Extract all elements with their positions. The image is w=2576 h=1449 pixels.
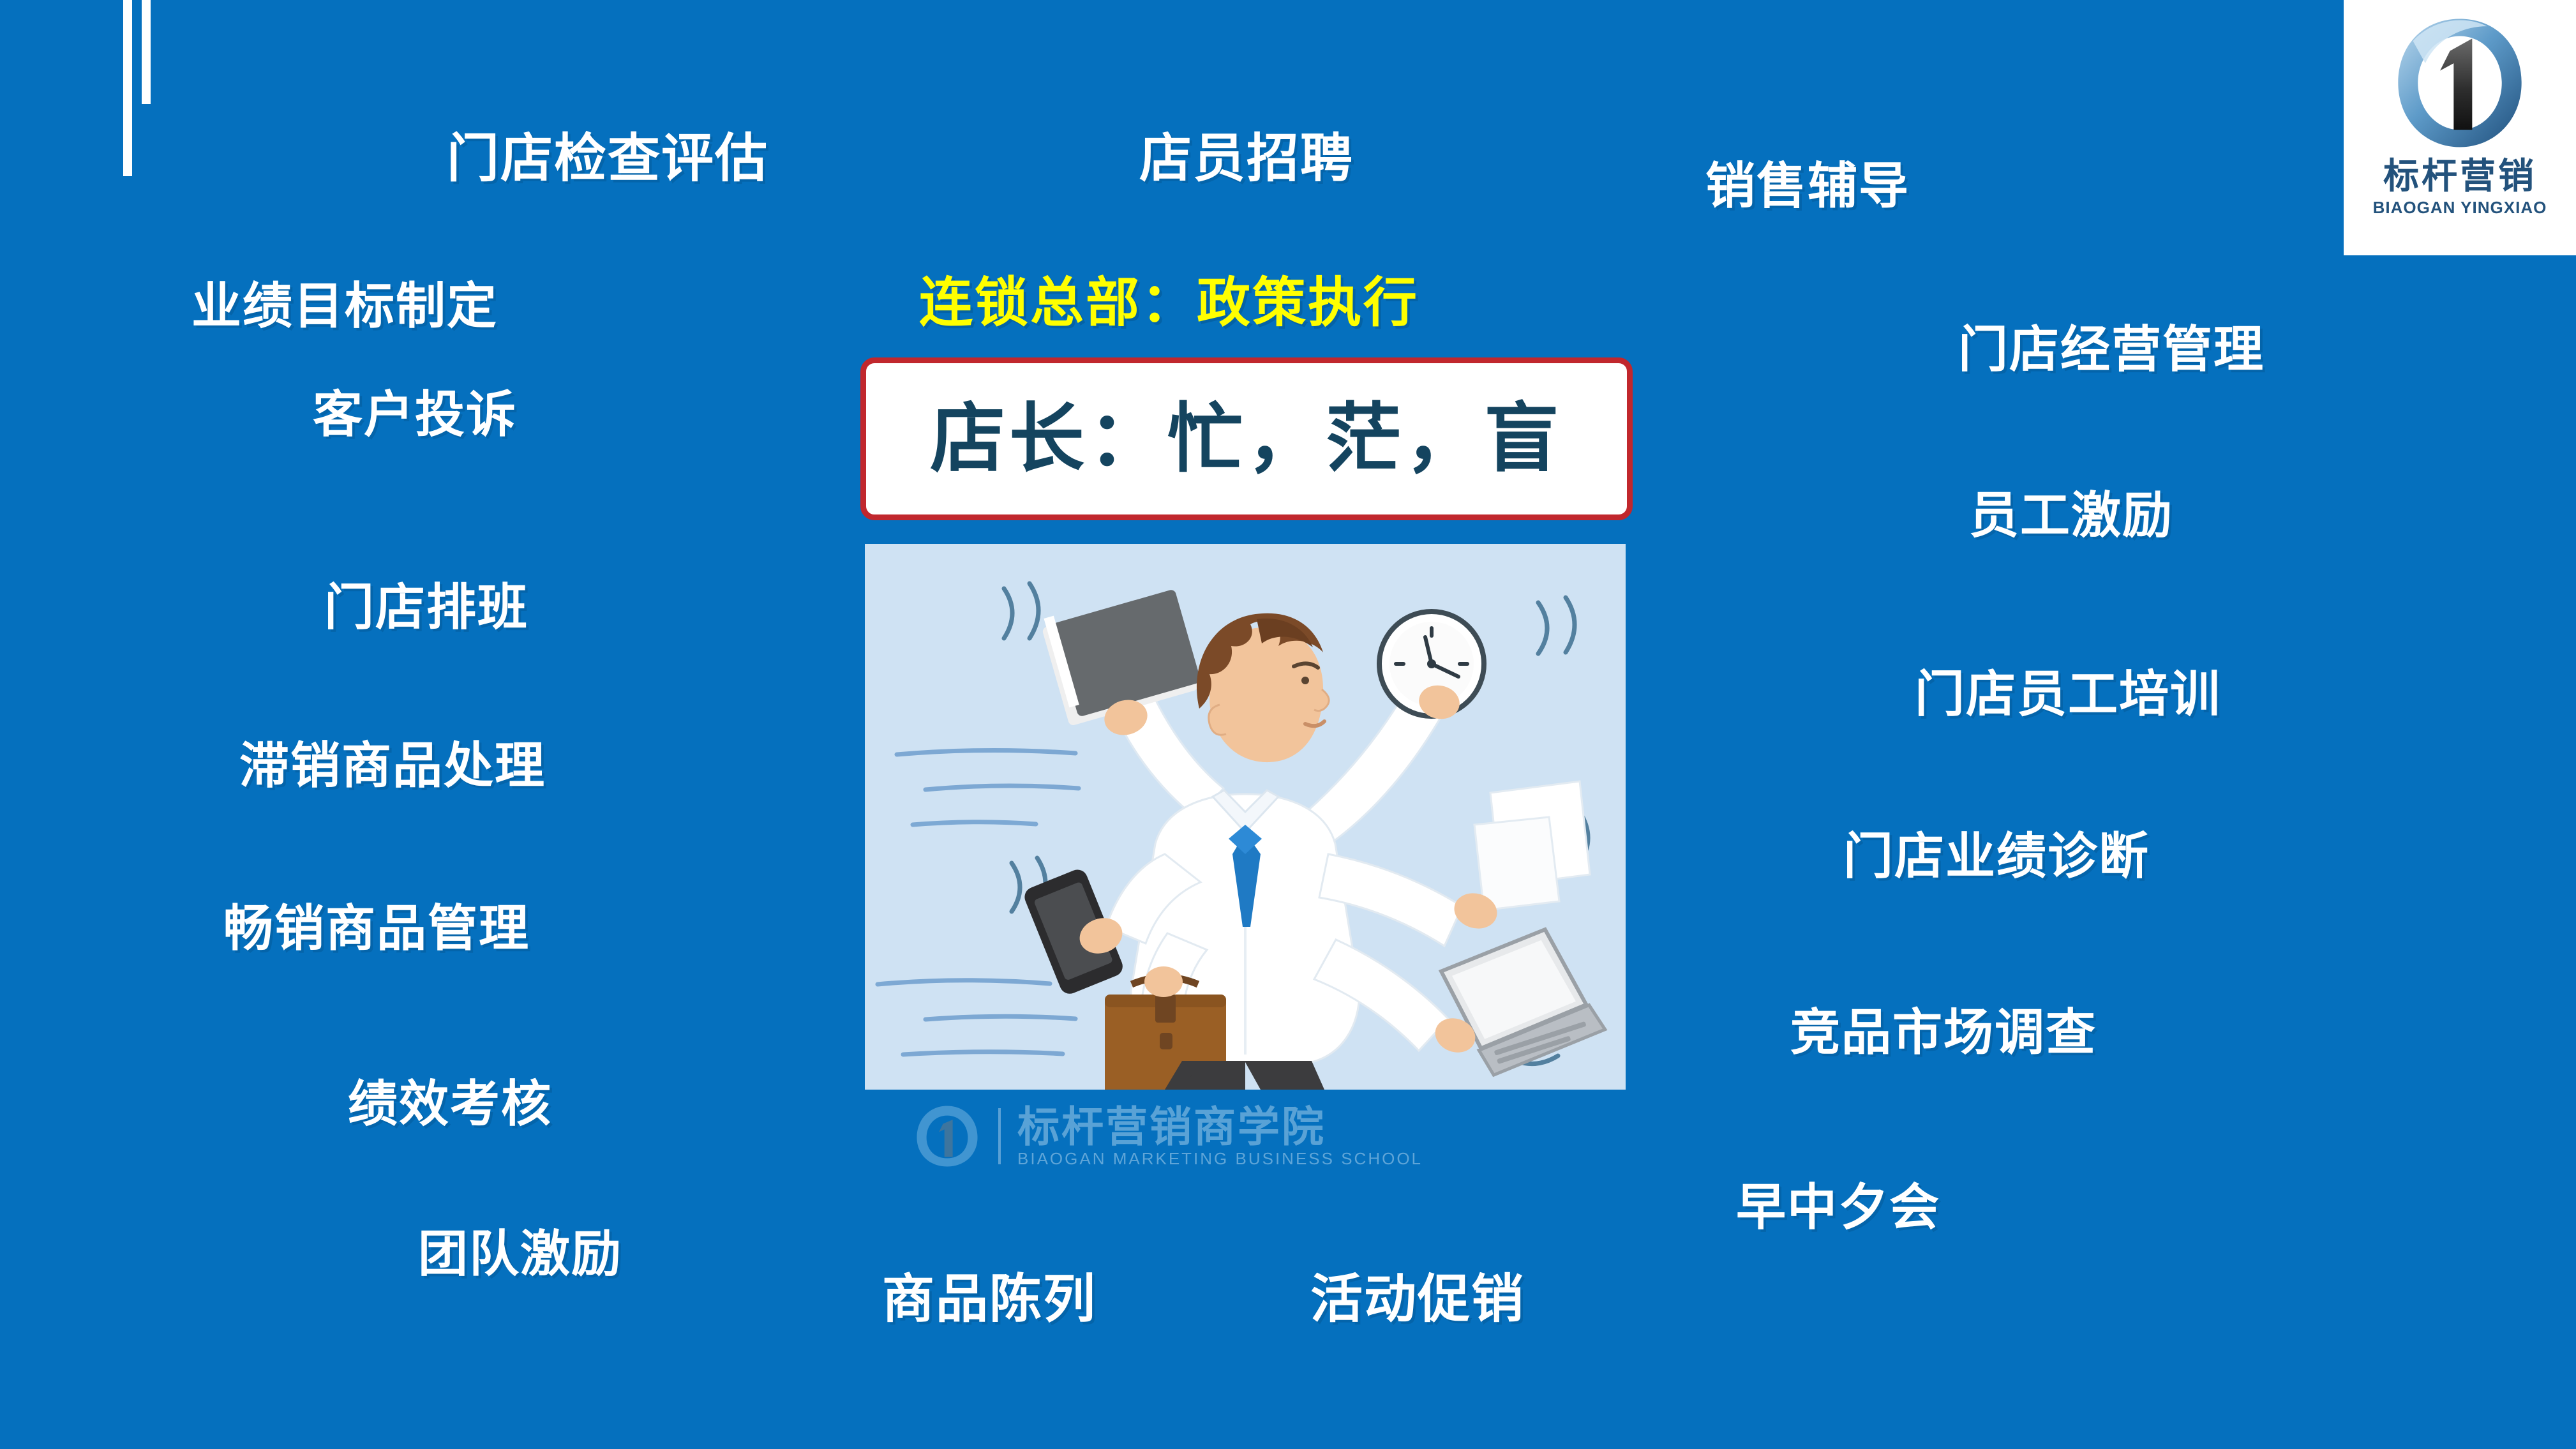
right-label-store-operations: 门店经营管理 xyxy=(1958,324,2265,374)
watermark-cn-text: 标杆营销商学院 xyxy=(1017,1106,1423,1148)
watermark-en-text: BIAOGAN MARKETING BUSINESS SCHOOL xyxy=(1017,1150,1423,1167)
brand-logo-cn-text: 标杆营销 xyxy=(2383,158,2536,194)
bottom-label-merchandising: 商品陈列 xyxy=(882,1273,1097,1326)
headline-hq-policy-execution: 连锁总部：政策执行 xyxy=(919,276,1419,329)
brand-logo: 标杆营销 BIAOGAN YINGXIAO xyxy=(2344,0,2576,255)
left-label-customer-complaint: 客户投诉 xyxy=(313,389,517,439)
right-label-sales-coaching: 销售辅导 xyxy=(1705,161,1910,211)
right-label-performance-diagnosis: 门店业绩诊断 xyxy=(1843,831,2150,881)
watermark-divider xyxy=(998,1108,1001,1164)
brand-logo-icon xyxy=(2386,9,2534,157)
brand-logo-en-text: BIAOGAN YINGXIAO xyxy=(2373,199,2547,216)
center-card: 店长：忙，茫，盲 xyxy=(860,357,1633,520)
watermark-business-school: 标杆营销商学院 BIAOGAN MARKETING BUSINESS SCHOO… xyxy=(913,1101,1519,1171)
left-label-team-motivation: 团队激励 xyxy=(418,1229,622,1279)
top-label-staff-recruitment: 店员招聘 xyxy=(1139,133,1354,185)
left-label-slow-moving-goods: 滞销商品处理 xyxy=(239,740,546,790)
right-label-staff-training: 门店员工培训 xyxy=(1915,669,2221,719)
left-label-performance-target: 业绩目标制定 xyxy=(191,281,498,331)
watermark-logo-icon xyxy=(913,1102,982,1171)
right-label-competitor-research: 竞品市场调查 xyxy=(1790,1007,2097,1057)
decorative-vertical-bar-long xyxy=(123,0,132,176)
illustration-busy-manager xyxy=(865,544,1626,1090)
center-card-text: 店长：忙，茫，盲 xyxy=(930,402,1563,477)
left-label-best-selling-goods: 畅销商品管理 xyxy=(223,903,530,953)
slide-canvas: 门店检查评估 店员招聘 业绩目标制定 客户投诉 门店排班 滞销商品处理 畅销商品… xyxy=(0,0,2576,1449)
right-label-employee-motivation: 员工激励 xyxy=(1969,490,2173,540)
bottom-label-promotions: 活动促销 xyxy=(1310,1273,1525,1326)
top-label-store-inspection: 门店检查评估 xyxy=(447,133,768,185)
left-label-performance-appraisal: 绩效考核 xyxy=(348,1079,552,1129)
right-label-daily-meetings: 早中夕会 xyxy=(1736,1182,1940,1232)
decorative-vertical-bar-short xyxy=(142,0,151,104)
left-label-shift-scheduling: 门店排班 xyxy=(324,582,528,632)
